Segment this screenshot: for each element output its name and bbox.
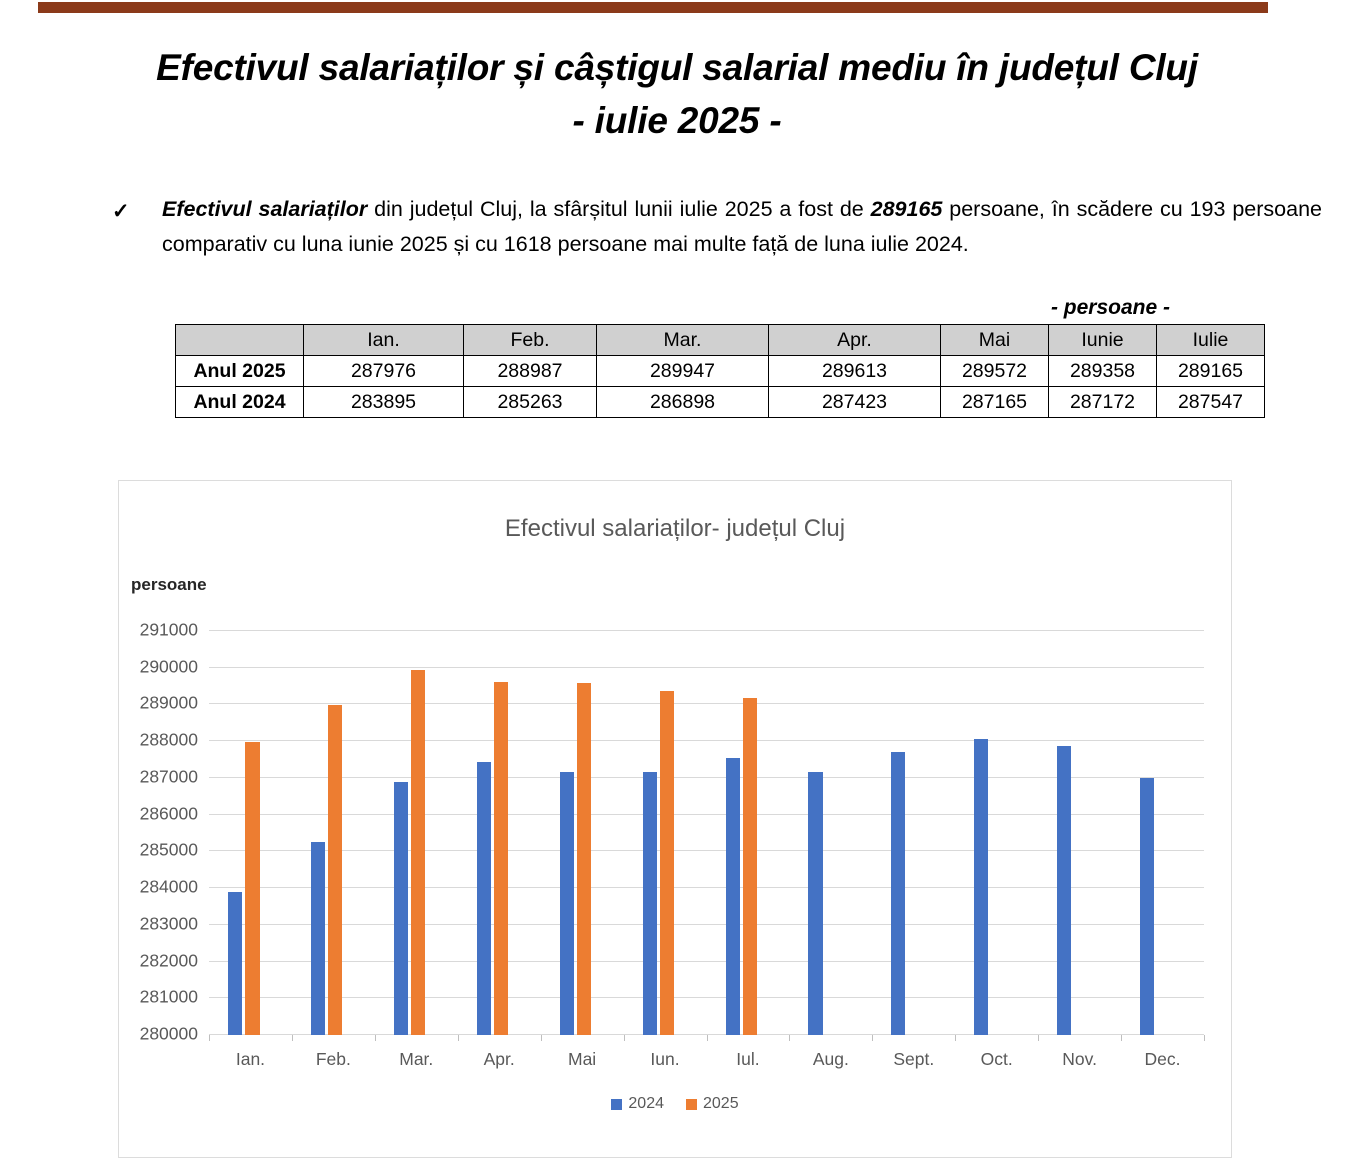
chart-x-tick bbox=[292, 1035, 293, 1041]
chart-x-category-label: Aug. bbox=[789, 1049, 872, 1070]
chart-category-group: Feb. bbox=[292, 631, 375, 1035]
chart-category-group: Sept. bbox=[872, 631, 955, 1035]
chart-legend-label: 2024 bbox=[628, 1095, 664, 1113]
chart-x-category-label: Apr. bbox=[458, 1049, 541, 1070]
chart-bar-2025-iul bbox=[743, 698, 757, 1035]
page-title-line-2: - iulie 2025 - bbox=[0, 95, 1354, 148]
chart-bar-2024-feb bbox=[311, 842, 325, 1035]
table-col-header-iulie: Iulie bbox=[1157, 325, 1265, 356]
chart-x-tick bbox=[209, 1035, 210, 1041]
chart-category-group: Nov. bbox=[1038, 631, 1121, 1035]
chart-bar-2025-mar bbox=[411, 670, 425, 1035]
chart-x-tick bbox=[1204, 1035, 1205, 1041]
chart-category-group: Iul. bbox=[707, 631, 790, 1035]
table-cell-2024-ian: 283895 bbox=[304, 387, 464, 418]
chart-x-category-label: Mai bbox=[541, 1049, 624, 1070]
chart-x-tick bbox=[1121, 1035, 1122, 1041]
chart-y-tick-label: 287000 bbox=[140, 766, 198, 787]
employees-bar-chart: Efectivul salariaților- județul Cluj per… bbox=[118, 480, 1232, 1158]
chart-y-tick-label: 281000 bbox=[140, 987, 198, 1008]
chart-y-tick-label: 289000 bbox=[140, 693, 198, 714]
table-cell-2025-apr: 289613 bbox=[769, 356, 941, 387]
chart-category-group: Mai bbox=[541, 631, 624, 1035]
chart-x-tick bbox=[541, 1035, 542, 1041]
table-cell-2025-mai: 289572 bbox=[941, 356, 1049, 387]
chart-legend-item-2024[interactable]: 2024 bbox=[611, 1095, 664, 1113]
chart-x-tick bbox=[375, 1035, 376, 1041]
chart-y-axis-unit-label: persoane bbox=[131, 575, 207, 595]
chart-category-group: Iun. bbox=[624, 631, 707, 1035]
summary-lead-term: Efectivul salariaților bbox=[162, 197, 367, 221]
chart-bar-2024-mai bbox=[560, 772, 574, 1035]
chart-bar-2025-iun bbox=[660, 691, 674, 1035]
table-cell-2025-ian: 287976 bbox=[304, 356, 464, 387]
table-row-label-2024: Anul 2024 bbox=[176, 387, 304, 418]
table-unit-label: - persoane - bbox=[0, 296, 1170, 320]
chart-bar-2024-iul bbox=[726, 758, 740, 1035]
chart-category-group: Ian. bbox=[209, 631, 292, 1035]
chart-x-category-label: Nov. bbox=[1038, 1049, 1121, 1070]
chart-category-group: Apr. bbox=[458, 631, 541, 1035]
chart-y-tick-label: 290000 bbox=[140, 656, 198, 677]
chart-y-tick-label: 286000 bbox=[140, 803, 198, 824]
chart-category-group: Dec. bbox=[1121, 631, 1204, 1035]
chart-x-tick bbox=[458, 1035, 459, 1041]
chart-x-category-label: Mar. bbox=[375, 1049, 458, 1070]
chart-category-group: Aug. bbox=[789, 631, 872, 1035]
page-title-line-1: Efectivul salariaților și câștigul salar… bbox=[0, 42, 1354, 95]
chart-x-category-label: Iun. bbox=[624, 1049, 707, 1070]
chart-legend: 20242025 bbox=[119, 1095, 1231, 1113]
table-cell-2024-feb: 285263 bbox=[464, 387, 597, 418]
chart-x-tick bbox=[955, 1035, 956, 1041]
chart-plot-area: 2910002900002890002880002870002860002850… bbox=[209, 631, 1204, 1035]
table-cell-2024-iunie: 287172 bbox=[1049, 387, 1157, 418]
chart-legend-swatch bbox=[686, 1099, 697, 1110]
checkmark-icon: ✓ bbox=[112, 195, 130, 229]
chart-x-category-label: Dec. bbox=[1121, 1049, 1204, 1070]
table-cell-2024-mai: 287165 bbox=[941, 387, 1049, 418]
chart-bar-2024-ian bbox=[228, 892, 242, 1035]
chart-x-category-label: Ian. bbox=[209, 1049, 292, 1070]
top-rule-accent bbox=[38, 2, 1268, 13]
chart-x-tick bbox=[872, 1035, 873, 1041]
chart-y-tick-label: 291000 bbox=[140, 620, 198, 641]
chart-x-category-label: Sept. bbox=[872, 1049, 955, 1070]
table-corner-cell bbox=[176, 325, 304, 356]
table-header-row: Ian. Feb. Mar. Apr. Mai Iunie Iulie bbox=[176, 325, 1265, 356]
chart-bar-2024-aug bbox=[808, 772, 822, 1035]
table-col-header-ian: Ian. bbox=[304, 325, 464, 356]
table-row-label-2025: Anul 2025 bbox=[176, 356, 304, 387]
chart-x-tick bbox=[707, 1035, 708, 1041]
chart-bar-2024-mar bbox=[394, 782, 408, 1035]
table-col-header-feb: Feb. bbox=[464, 325, 597, 356]
chart-x-tick bbox=[789, 1035, 790, 1041]
chart-y-tick-label: 283000 bbox=[140, 913, 198, 934]
chart-bar-2024-oct bbox=[974, 739, 988, 1035]
table-col-header-mar: Mar. bbox=[597, 325, 769, 356]
chart-x-tick bbox=[1038, 1035, 1039, 1041]
chart-bar-2024-sept bbox=[891, 752, 905, 1035]
summary-bullet-text: Efectivul salariaților din județul Cluj,… bbox=[162, 192, 1322, 262]
chart-x-tick bbox=[624, 1035, 625, 1041]
chart-bar-2024-iun bbox=[643, 772, 657, 1035]
table-cell-2025-feb: 288987 bbox=[464, 356, 597, 387]
chart-y-tick-label: 285000 bbox=[140, 840, 198, 861]
chart-x-category-label: Iul. bbox=[707, 1049, 790, 1070]
page-title: Efectivul salariaților și câștigul salar… bbox=[0, 42, 1354, 147]
chart-y-tick-label: 288000 bbox=[140, 730, 198, 751]
chart-bar-2024-apr bbox=[477, 762, 491, 1035]
chart-bar-2025-feb bbox=[328, 705, 342, 1035]
chart-bar-2025-mai bbox=[577, 683, 591, 1035]
table-row: Anul 2025 287976 288987 289947 289613 28… bbox=[176, 356, 1265, 387]
chart-x-category-label: Oct. bbox=[955, 1049, 1038, 1070]
table-col-header-mai: Mai bbox=[941, 325, 1049, 356]
chart-x-category-label: Feb. bbox=[292, 1049, 375, 1070]
chart-legend-swatch bbox=[611, 1099, 622, 1110]
chart-y-tick-label: 282000 bbox=[140, 950, 198, 971]
table-col-header-apr: Apr. bbox=[769, 325, 941, 356]
summary-bullet: ✓ Efectivul salariaților din județul Clu… bbox=[112, 192, 1322, 262]
summary-text-part-1: din județul Cluj, la sfârșitul lunii iul… bbox=[367, 197, 870, 221]
chart-category-group: Oct. bbox=[955, 631, 1038, 1035]
summary-highlight-value: 289165 bbox=[871, 197, 943, 221]
employees-data-table: Ian. Feb. Mar. Apr. Mai Iunie Iulie Anul… bbox=[175, 324, 1265, 418]
table-cell-2024-apr: 287423 bbox=[769, 387, 941, 418]
table-cell-2024-iulie: 287547 bbox=[1157, 387, 1265, 418]
chart-category-group: Mar. bbox=[375, 631, 458, 1035]
chart-bar-2024-nov bbox=[1057, 746, 1071, 1035]
table-cell-2025-iunie: 289358 bbox=[1049, 356, 1157, 387]
table-col-header-iunie: Iunie bbox=[1049, 325, 1157, 356]
chart-legend-label: 2025 bbox=[703, 1095, 739, 1113]
chart-bar-2025-apr bbox=[494, 682, 508, 1035]
chart-title: Efectivul salariaților- județul Cluj bbox=[119, 515, 1231, 543]
table-cell-2025-mar: 289947 bbox=[597, 356, 769, 387]
table-cell-2025-iulie: 289165 bbox=[1157, 356, 1265, 387]
table-row: Anul 2024 283895 285263 286898 287423 28… bbox=[176, 387, 1265, 418]
chart-bar-2024-dec bbox=[1140, 778, 1154, 1035]
chart-y-tick-label: 280000 bbox=[140, 1024, 198, 1045]
chart-y-tick-label: 284000 bbox=[140, 877, 198, 898]
chart-legend-item-2025[interactable]: 2025 bbox=[686, 1095, 739, 1113]
chart-bar-2025-ian bbox=[245, 742, 259, 1035]
table-cell-2024-mar: 286898 bbox=[597, 387, 769, 418]
